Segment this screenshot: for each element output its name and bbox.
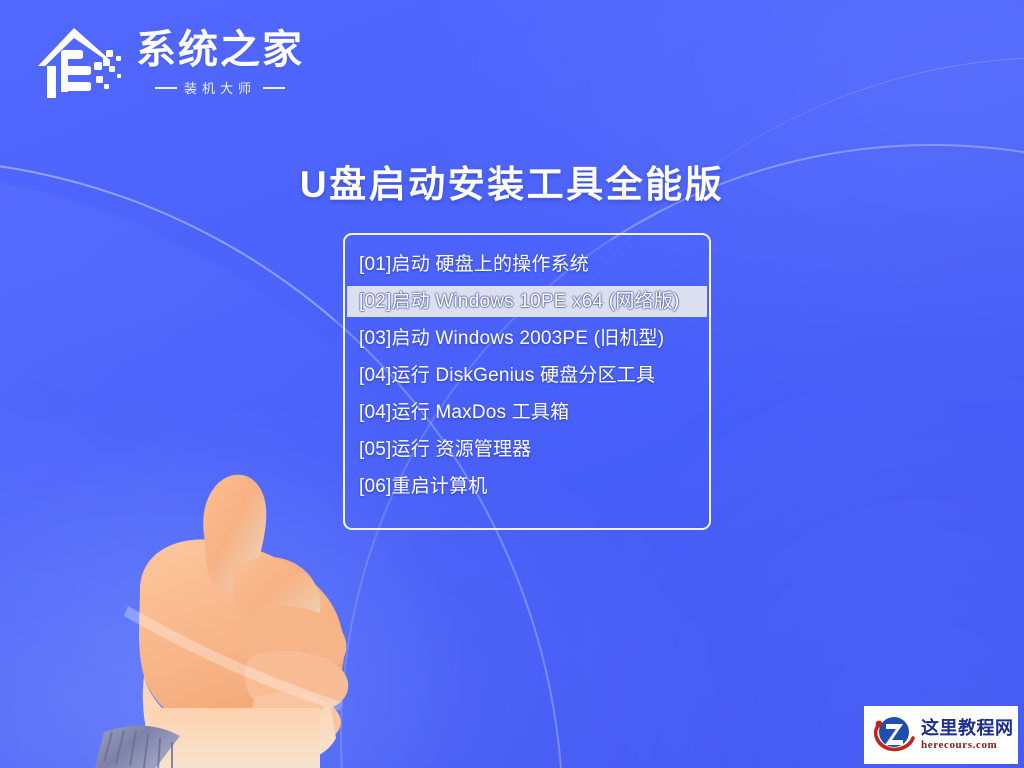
z-circle-logo-icon	[870, 712, 916, 759]
watermark-site-name: 这里教程网	[921, 719, 1014, 737]
menu-item-04-maxdos[interactable]: [04]运行 MaxDos 工具箱	[345, 397, 709, 428]
boot-menu-list: [01]启动 硬盘上的操作系统 [02]启动 Windows 10PE x64 …	[345, 249, 709, 502]
menu-item-05[interactable]: [05]运行 资源管理器	[345, 434, 709, 465]
watermark: 这里教程网 herecours.com	[864, 706, 1018, 764]
watermark-site-url: herecours.com	[921, 740, 1014, 751]
house-pixel-logo-icon	[30, 14, 126, 106]
menu-item-06[interactable]: [06]重启计算机	[345, 471, 709, 502]
boot-menu-screen: 系统之家 装机大师 U盘启动安装工具全能版 [01]启动 硬盘上的操作系统 [0…	[0, 0, 1024, 768]
menu-item-04-diskgenius[interactable]: [04]运行 DiskGenius 硬盘分区工具	[345, 360, 709, 391]
tagline-dash-left	[155, 87, 177, 89]
brand-tagline: 装机大师	[155, 78, 285, 97]
menu-item-02[interactable]: [02]启动 Windows 10PE x64 (网络版)	[347, 286, 707, 317]
tagline-text: 装机大师	[184, 78, 256, 97]
menu-item-03[interactable]: [03]启动 Windows 2003PE (旧机型)	[345, 323, 709, 354]
menu-item-01[interactable]: [01]启动 硬盘上的操作系统	[345, 249, 709, 280]
tagline-dash-right	[263, 87, 285, 89]
page-title: U盘启动安装工具全能版	[0, 154, 1024, 208]
brand-name: 系统之家	[136, 29, 304, 71]
boot-menu-box: [01]启动 硬盘上的操作系统 [02]启动 Windows 10PE x64 …	[343, 233, 711, 530]
brand-logo: 系统之家 装机大师	[30, 14, 304, 106]
